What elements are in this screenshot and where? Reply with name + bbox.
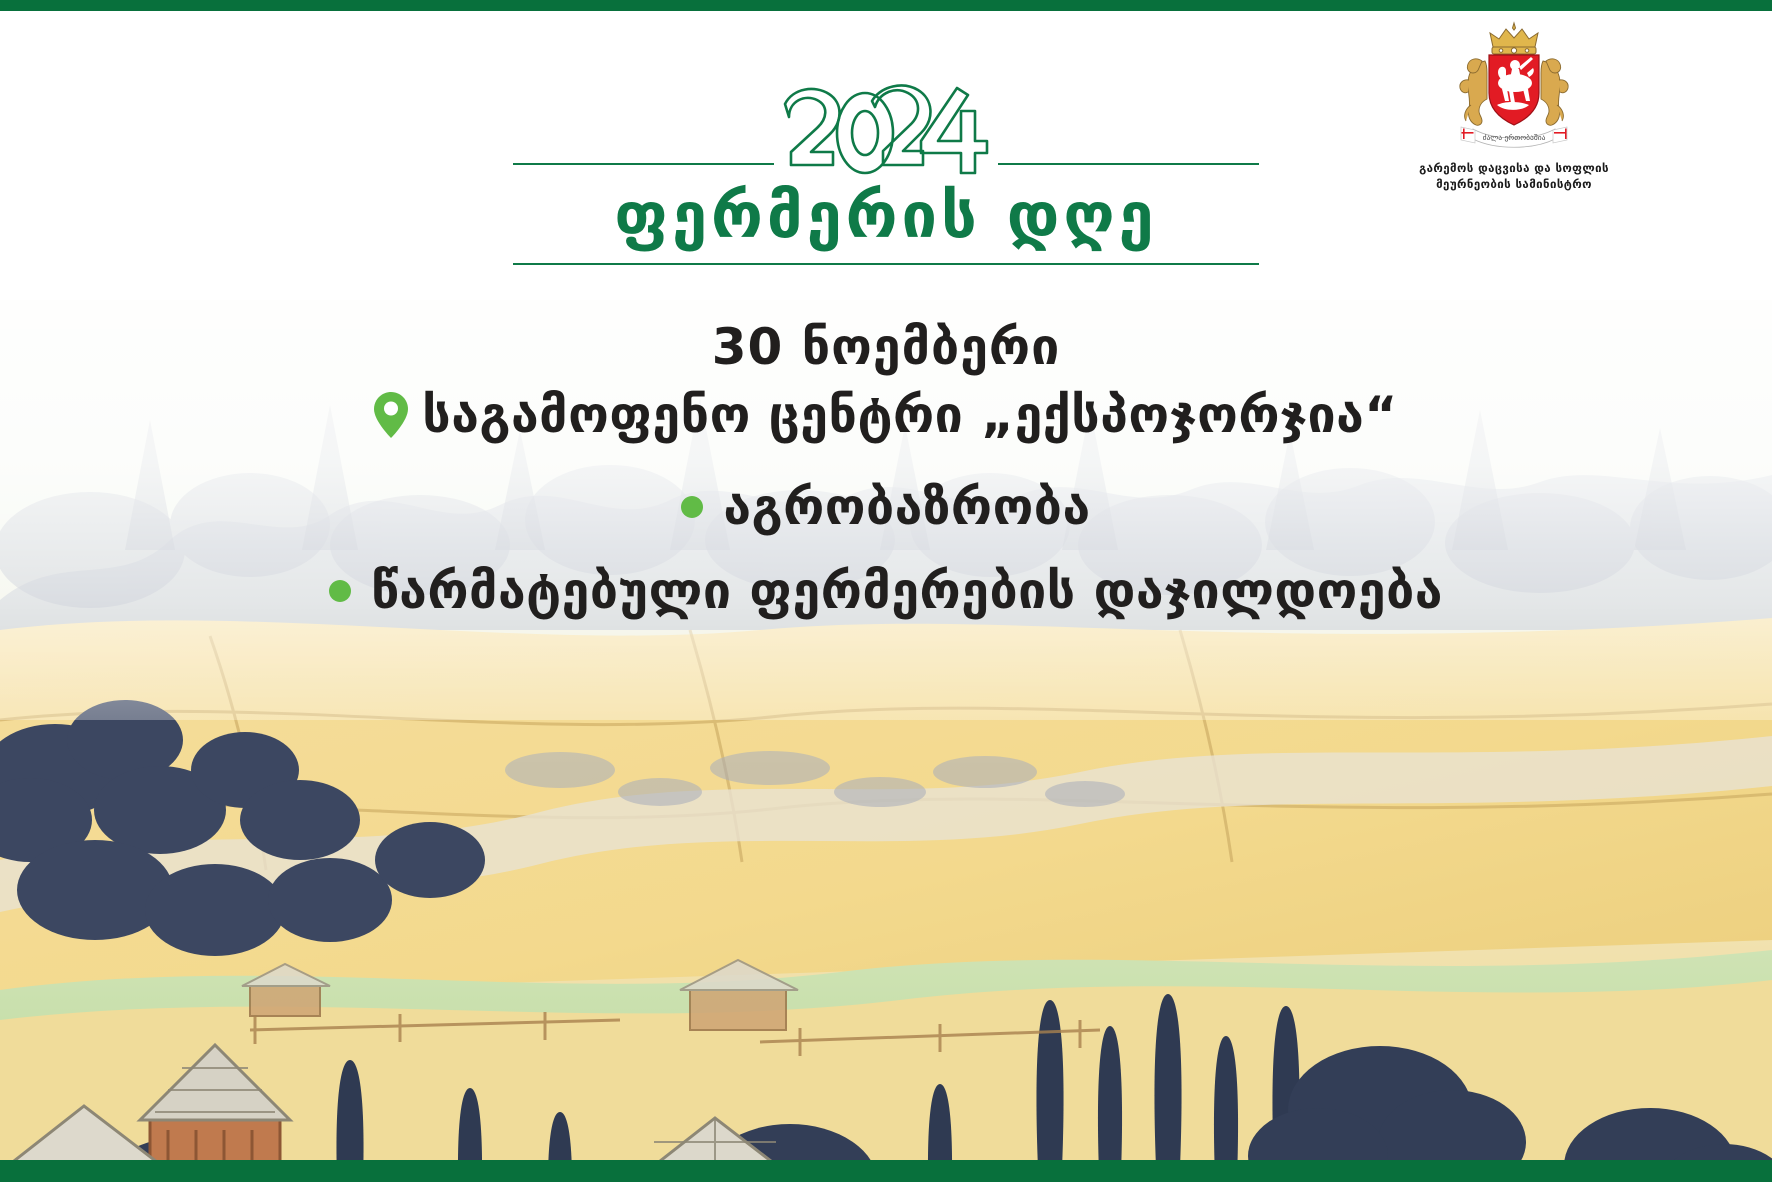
location-pin-icon [374, 392, 408, 438]
georgia-coat-of-arms-icon: ძალა ერთობაშია [1449, 17, 1579, 157]
bullet-dot-icon [329, 580, 351, 602]
header-rule-right [998, 163, 1259, 165]
poster-header: ფერმერის დღე [0, 11, 1772, 300]
event-bullet-2-label: წარმატებული ფერმერების დაჯილდოება [371, 562, 1443, 620]
ministry-name-line-1: გარემოს დაცვისა და სოფლის [1404, 161, 1624, 177]
page-title: ფერმერის დღე [614, 179, 1157, 252]
year-2024-emblem [771, 83, 1001, 183]
event-bullet-1-label: აგრობაზრობა [723, 478, 1090, 536]
ministry-name-line-2: მეურნეობის სამინისტრო [1404, 177, 1624, 193]
event-bullet-2: წარმატებული ფერმერების დაჯილდოება [0, 562, 1772, 620]
top-accent-bar [0, 0, 1772, 11]
event-bullet-1: აგრობაზრობა [0, 478, 1772, 536]
title-underline [513, 263, 1259, 265]
ministry-name: გარემოს დაცვისა და სოფლის მეურნეობის სამ… [1404, 161, 1624, 192]
bottom-accent-bar [0, 1160, 1772, 1182]
ministry-logo-block: ძალა ერთობაშია გარემოს დაცვისა და სოფლის… [1404, 17, 1624, 192]
event-details: 30 ნოემბერი საგამოფენო ცენტრი „ექსპოჯორჯ… [0, 300, 1772, 620]
poster-root: ფერმერის დღე [0, 0, 1772, 1182]
event-venue-row: საგამოფენო ცენტრი „ექსპოჯორჯია“ [0, 386, 1772, 444]
bullet-dot-icon [681, 496, 703, 518]
event-date: 30 ნოემბერი [0, 318, 1772, 376]
header-rule-left [513, 163, 774, 165]
svg-text:ძალა ერთობაშია: ძალა ერთობაშია [1483, 133, 1546, 142]
event-venue: საგამოფენო ცენტრი „ექსპოჯორჯია“ [422, 386, 1397, 444]
